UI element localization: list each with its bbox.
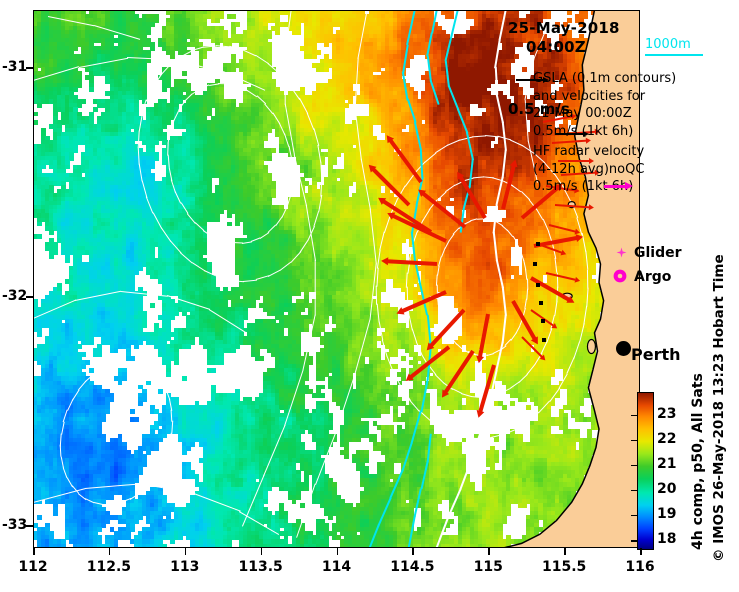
sst-velocity-map: 25-May-201804:00Z 200m 1000m GSLA (0.1m … bbox=[0, 0, 739, 592]
